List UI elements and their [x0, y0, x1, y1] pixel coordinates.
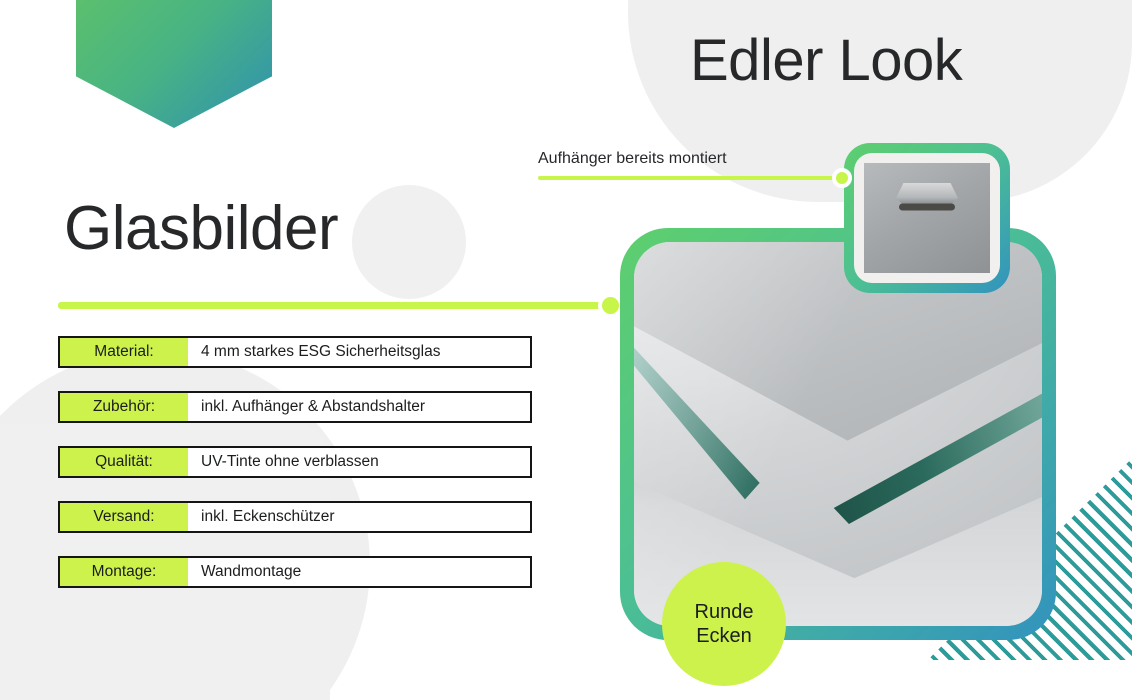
badge-runde-ecken: Runde Ecken	[662, 562, 786, 686]
callout-connector-rule	[538, 176, 848, 180]
spec-label: Qualität:	[60, 448, 188, 476]
spec-table: Material: 4 mm starkes ESG Sicherheitsgl…	[58, 336, 532, 611]
spec-value: UV-Tinte ohne verblassen	[188, 448, 530, 476]
table-row: Qualität: UV-Tinte ohne verblassen	[58, 446, 532, 478]
spec-label: Zubehör:	[60, 393, 188, 421]
callout-label-hanger: Aufhänger bereits montiert	[538, 150, 727, 168]
hanger-inset-white-border	[854, 153, 1000, 283]
table-row: Versand: inkl. Eckenschützer	[58, 501, 532, 533]
shield-badge-logo-icon	[76, 0, 272, 128]
infographic-canvas: Glasbilder Material: 4 mm starkes ESG Si…	[0, 0, 1132, 700]
spec-value: inkl. Eckenschützer	[188, 503, 530, 531]
spec-label: Versand:	[60, 503, 188, 531]
spec-label: Montage:	[60, 558, 188, 586]
title-underline-rule	[58, 302, 611, 309]
spec-label: Material:	[60, 338, 188, 366]
decor-grey-circle-behind-title	[352, 185, 466, 299]
spec-value: 4 mm starkes ESG Sicherheitsglas	[188, 338, 530, 366]
hanger-detail-photo	[864, 163, 990, 273]
page-title: Glasbilder	[64, 198, 338, 260]
table-row: Zubehör: inkl. Aufhänger & Abstandshalte…	[58, 391, 532, 423]
badge-line-2: Ecken	[696, 624, 752, 648]
hanger-detail-inset-frame	[844, 143, 1010, 293]
headline-edler-look: Edler Look	[690, 32, 962, 90]
spec-value: Wandmontage	[188, 558, 530, 586]
callout-end-dot-icon	[832, 168, 852, 188]
table-row: Material: 4 mm starkes ESG Sicherheitsgl…	[58, 336, 532, 368]
spec-value: inkl. Aufhänger & Abstandshalter	[188, 393, 530, 421]
badge-line-1: Runde	[695, 600, 754, 624]
hanger-slot-icon	[899, 204, 955, 211]
table-row: Montage: Wandmontage	[58, 556, 532, 588]
